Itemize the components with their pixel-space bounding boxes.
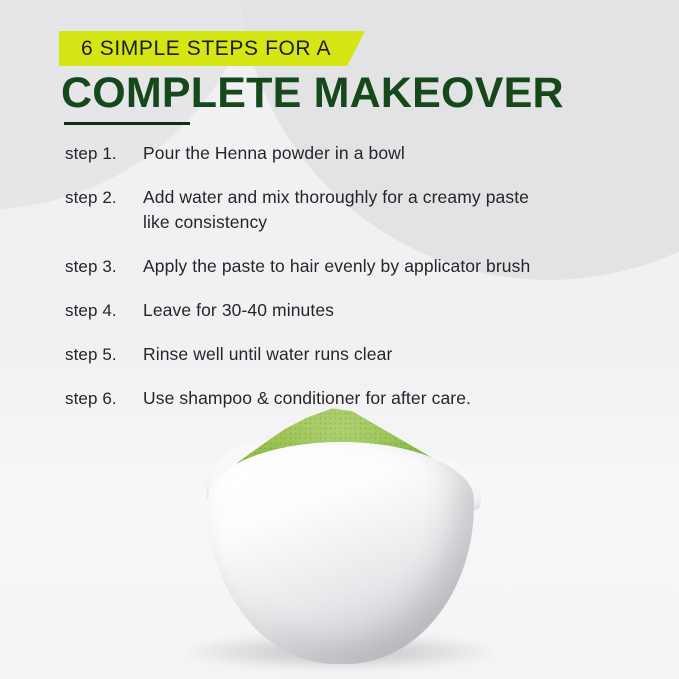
step-label: step 3. — [65, 254, 143, 279]
henna-powder-bowl-image — [178, 404, 502, 676]
step-text: Pour the Henna powder in a bowl — [143, 141, 543, 166]
step-label: step 2. — [65, 185, 143, 210]
list-item: step 1. Pour the Henna powder in a bowl — [0, 141, 679, 166]
step-label: step 4. — [65, 298, 143, 323]
product-infographic: 6 SIMPLE STEPS FOR A COMPLETE MAKEOVER s… — [0, 0, 679, 679]
step-label: step 1. — [65, 141, 143, 166]
eyebrow-banner: 6 SIMPLE STEPS FOR A — [59, 31, 365, 66]
step-label: step 6. — [65, 386, 143, 411]
step-text: Apply the paste to hair evenly by applic… — [143, 254, 543, 279]
title-underline-rule — [64, 122, 190, 125]
page-title: COMPLETE MAKEOVER — [61, 70, 564, 116]
steps-list: step 1. Pour the Henna powder in a bowl … — [0, 141, 679, 430]
list-item: step 3. Apply the paste to hair evenly b… — [0, 254, 679, 279]
step-text: Add water and mix thoroughly for a cream… — [143, 185, 543, 235]
step-label: step 5. — [65, 342, 143, 367]
step-text: Leave for 30-40 minutes — [143, 298, 543, 323]
step-text: Rinse well until water runs clear — [143, 342, 543, 367]
bowl-body — [208, 442, 474, 664]
list-item: step 5. Rinse well until water runs clea… — [0, 342, 679, 367]
list-item: step 4. Leave for 30-40 minutes — [0, 298, 679, 323]
list-item: step 2. Add water and mix thoroughly for… — [0, 185, 679, 235]
